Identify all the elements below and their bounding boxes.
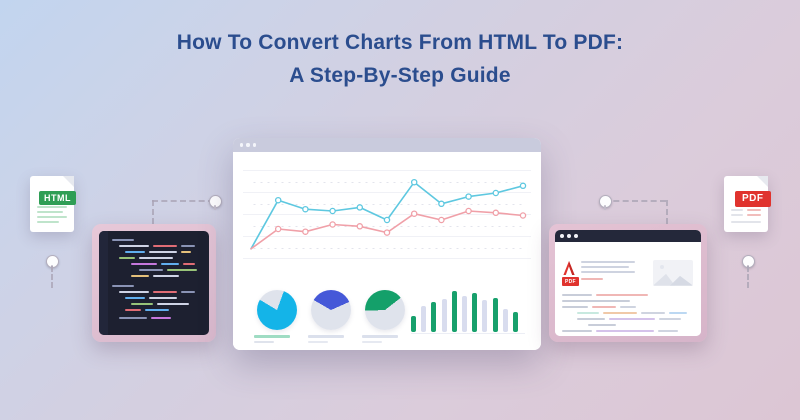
code-editor-window[interactable] [92,224,216,342]
doc-text-line [588,324,616,326]
code-line [119,245,149,247]
doc-text-line [562,306,588,308]
sun-glyph [660,265,664,269]
pie-3-slices [365,290,405,330]
bar [421,306,426,332]
doc-line [37,221,59,223]
doc-text-line [658,330,678,332]
poster-canvas: How To Convert Charts From HTML To PDF: … [0,0,800,420]
window-dot-maximize[interactable] [574,234,578,238]
doc-line [747,214,761,216]
doc-text-line [577,312,599,314]
code-line [181,291,195,293]
legend-line [362,341,382,344]
code-line [125,297,145,299]
pdf-viewer-surface[interactable]: PDF [555,230,701,336]
code-line [131,275,149,277]
code-line [131,263,157,265]
doc-text-line [609,318,655,320]
doc-line [37,216,67,218]
bar [411,316,416,332]
connector-line-right-top [604,200,666,202]
line-data-point [357,205,362,210]
pie-2-slices [311,290,351,330]
line-data-point [357,224,362,229]
title-line-2: A Step-By-Step Guide [0,59,800,92]
line-data-point [384,230,389,235]
pdf-document-body: PDF [555,242,701,336]
line-data-point [466,208,471,213]
pdf-viewer-window[interactable]: PDF [549,224,707,342]
code-line [153,291,177,293]
doc-line [747,209,761,211]
code-line [119,257,135,259]
code-line [183,263,195,265]
code-line [112,239,134,241]
connector-line-left-top [152,200,214,202]
line-data-point [330,222,335,227]
mountain-glyph [653,270,693,286]
bar [503,309,508,332]
pie-1-legend [254,335,298,346]
code-line [119,291,149,293]
doc-line [731,214,743,216]
html-file-icon[interactable]: HTML [30,176,74,232]
doc-text-line [620,306,636,308]
code-editor-surface[interactable] [99,231,209,335]
connector-line-left-bottom [51,266,53,288]
line-data-point [493,190,498,195]
bar-chart-baseline [411,333,525,334]
line-series-path [251,182,523,249]
code-line [125,251,145,253]
legend-line [308,335,344,338]
adobe-acrobat-icon [562,260,576,276]
doc-text-line [581,271,635,273]
image-placeholder-icon [653,260,693,286]
doc-text-line [596,294,648,296]
legend-line [362,335,398,338]
code-line [112,285,134,287]
pdf-file-icon[interactable]: PDF [724,176,768,232]
pie-2-legend [308,335,352,346]
bar [472,293,477,332]
pie-1-slices [257,290,297,330]
bar [452,291,457,332]
pie-chart-3 [365,290,405,330]
code-line [139,269,163,271]
pie-3-legend [362,335,406,346]
window-dot-minimize[interactable] [567,234,571,238]
doc-text-line [669,312,687,314]
doc-text-line [603,312,637,314]
window-dot-close[interactable] [560,234,564,238]
line-data-point [384,217,389,222]
doc-text-line [592,306,616,308]
doc-text-line [581,266,629,268]
line-data-point [466,194,471,199]
browser-titlebar[interactable] [233,138,541,152]
doc-line [731,221,761,223]
line-data-point [520,183,525,188]
code-line [149,297,177,299]
doc-text-line [659,318,681,320]
code-line [139,257,173,259]
pdf-chip-label: PDF [562,277,579,286]
line-data-point [276,226,281,231]
code-line [125,309,141,311]
pdf-titlebar[interactable] [555,230,701,242]
doc-line [37,211,63,213]
line-chart [233,152,541,270]
code-line [167,269,197,271]
bar-chart [411,286,523,332]
connector-line-right-drop [666,200,668,224]
window-dot-close[interactable] [240,143,243,146]
doc-text-line [641,312,665,314]
code-line [131,303,153,305]
legend-line [254,341,274,344]
connector-line-right-bottom [747,266,749,288]
line-data-point [520,213,525,218]
doc-text-line [562,294,592,296]
code-line [181,251,191,253]
page-fold-corner [757,176,768,187]
line-data-point [303,207,308,212]
line-data-point [439,201,444,206]
bar [431,302,436,332]
pdf-badge: PDF [735,191,771,207]
connector-line-left-drop [152,200,154,224]
legend-line [308,341,328,344]
code-line [151,317,171,319]
code-line [157,303,189,305]
editor-gutter [99,231,108,335]
window-dot-maximize[interactable] [253,143,256,146]
bar [513,312,518,332]
bar [442,299,447,332]
doc-text-line [577,318,605,320]
line-data-point [276,198,281,203]
code-line [149,251,177,253]
line-data-point [493,210,498,215]
pie-chart-1 [257,290,297,330]
legend-line [254,335,290,338]
doc-line [37,206,67,208]
code-line [119,317,147,319]
page-title: How To Convert Charts From HTML To PDF: … [0,26,800,92]
page-fold-corner [63,176,74,187]
code-line [145,309,169,311]
doc-text-line [562,300,630,302]
doc-text-line [581,261,635,263]
html-badge: HTML [39,191,76,205]
code-line [153,275,179,277]
line-data-point [330,208,335,213]
code-line [161,263,179,265]
doc-text-line [581,278,603,280]
line-data-point [303,229,308,234]
bar [462,296,467,332]
doc-line [731,209,743,211]
line-data-point [439,217,444,222]
doc-text-line [562,330,592,332]
doc-text-line [596,330,654,332]
window-dot-minimize[interactable] [246,143,249,146]
chart-browser-window[interactable] [233,138,541,350]
line-data-point [412,180,417,185]
code-line [153,245,177,247]
bar [482,300,487,332]
chart-canvas [233,152,541,350]
line-data-point [412,211,417,216]
connector-node-right-top[interactable] [599,195,612,208]
title-line-1: How To Convert Charts From HTML To PDF: [177,31,623,54]
bar [493,298,498,333]
code-line [181,245,195,247]
pie-chart-2 [311,290,351,330]
connector-node-left-top[interactable] [209,195,222,208]
